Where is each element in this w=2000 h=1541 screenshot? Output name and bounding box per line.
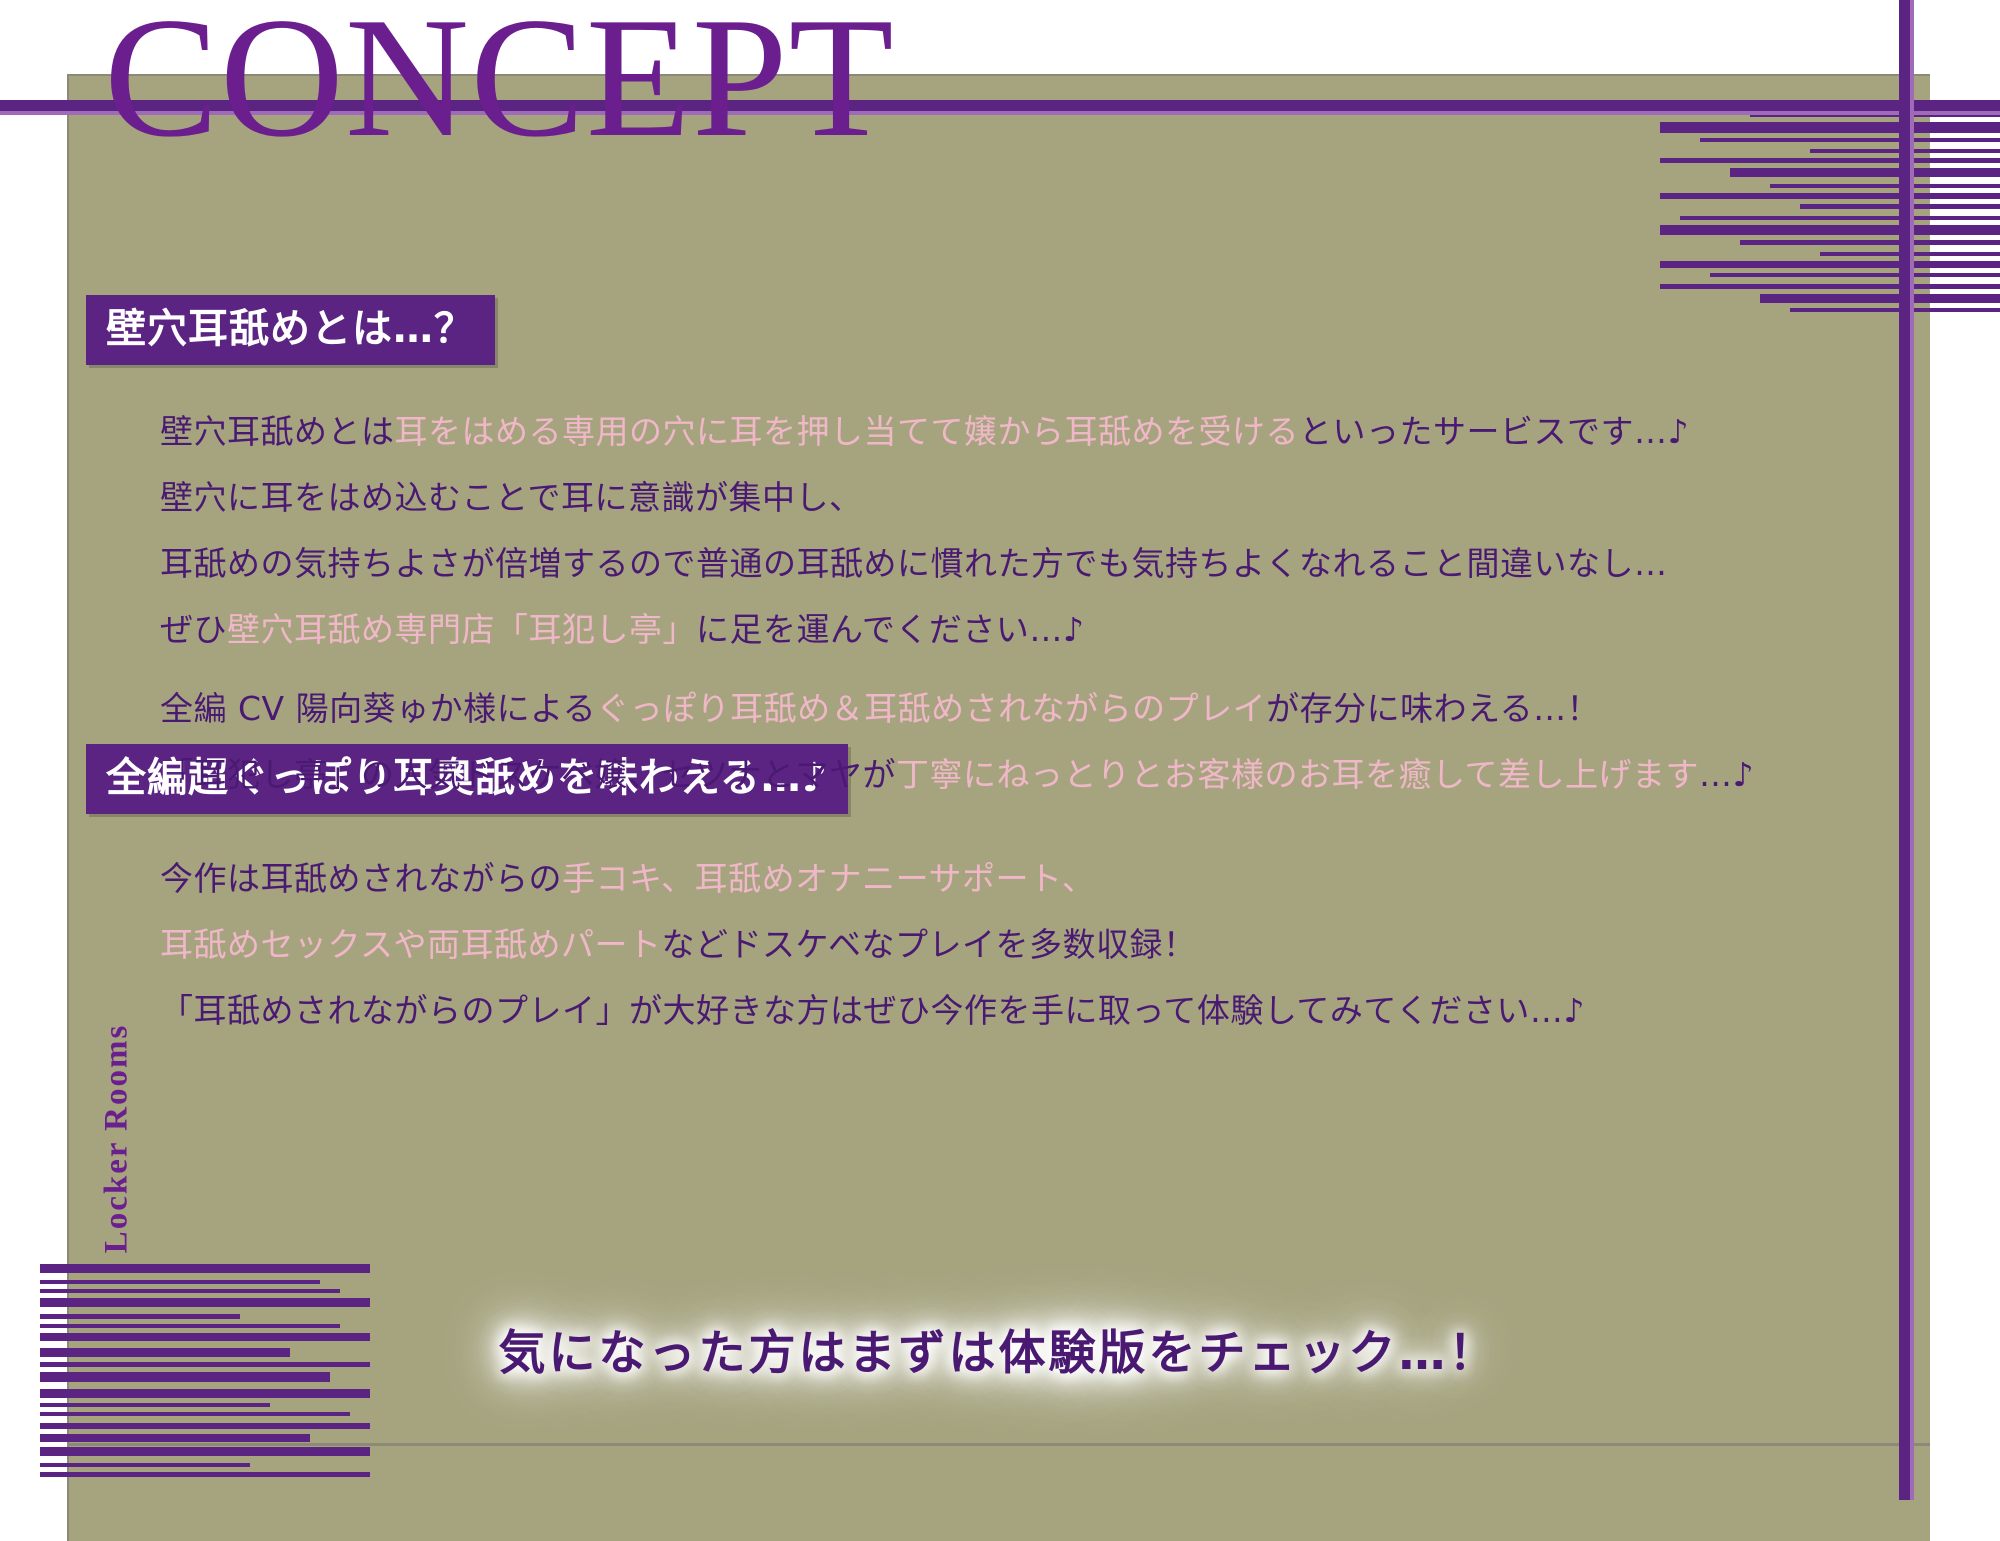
body-text-run: 壁穴に耳をはめ込むことで耳に意識が集中し、 (160, 478, 863, 517)
highlight-text-run: 手コキ、耳舐めオナニーサポート、 (562, 859, 1095, 898)
body-text-run: 耳舐めの気持ちよさが倍増するので普通の耳舐めに慣れた方でも気持ちよくなれること間… (160, 544, 1668, 583)
section-body-3: 今作は耳舐めされながらの手コキ、耳舐めオナニーサポート、耳舐めセックスや両耳舐め… (160, 846, 1585, 1044)
body-text-run: 「耳舐めされながらのプレイ」が大好きな方はぜひ今作を手に取って体験してみてくださ… (160, 991, 1585, 1030)
body-text-run: 「耳犯し亭」の人気ドスケベ嬢、セツナとマヤが (160, 755, 896, 794)
body-text-run: 今作は耳舐めされながらの (160, 859, 562, 898)
section-body-1: 壁穴耳舐めとは耳をはめる専用の穴に耳を押し当てて嬢から耳舐めを受けるといったサー… (160, 399, 1689, 663)
body-line: 「耳犯し亭」の人気ドスケベ嬢、セツナとマヤが丁寧にねっとりとお客様のお耳を癒して… (160, 742, 1754, 808)
body-line: 今作は耳舐めされながらの手コキ、耳舐めオナニーサポート、 (160, 846, 1585, 912)
section-body-2: 全編 CV 陽向葵ゅか様によるぐっぽり耳舐め＆耳舐めされながらのプレイが存分に味… (160, 676, 1754, 808)
body-line: 壁穴耳舐めとは耳をはめる専用の穴に耳を押し当てて嬢から耳舐めを受けるといったサー… (160, 399, 1689, 465)
highlight-text-run: 丁寧にねっとりとお客様のお耳を癒して差し上げます (896, 755, 1699, 794)
body-text-run: に足を運んでください…♪ (696, 610, 1084, 649)
body-text-run: が存分に味わえる…！ (1266, 689, 1600, 728)
body-line: 「耳舐めされながらのプレイ」が大好きな方はぜひ今作を手に取って体験してみてくださ… (160, 978, 1585, 1044)
barcode-stripe (40, 1447, 370, 1456)
body-text-run: 全編 CV 陽向葵ゅか様による (160, 689, 596, 728)
body-text-run: ぜひ (160, 610, 227, 649)
body-text-run: といったサービスです…♪ (1299, 412, 1689, 451)
barcode-stripe (40, 1472, 370, 1477)
body-line: 耳舐めの気持ちよさが倍増するので普通の耳舐めに慣れた方でも気持ちよくなれること間… (160, 531, 1689, 597)
section-heading-badge-1: 壁穴耳舐めとは…？ (86, 295, 495, 365)
barcode-stripe (40, 1463, 250, 1467)
body-line: 耳舐めセックスや両耳舐めパートなどドスケベなプレイを多数収録！ (160, 912, 1585, 978)
highlight-text-run: 壁穴耳舐め専門店「耳犯し亭」 (227, 610, 696, 649)
content-area: 壁穴耳舐めとは…？ 壁穴耳舐めとは耳をはめる専用の穴に耳を押し当てて嬢から耳舐め… (67, 74, 1930, 1443)
highlight-text-run: ぐっぽり耳舐め＆耳舐めされながらのプレイ (596, 689, 1266, 728)
body-text-run: 壁穴耳舐めとは (160, 412, 395, 451)
highlight-text-run: 耳舐めセックスや両耳舐めパート (160, 925, 662, 964)
body-text-run: …♪ (1699, 755, 1754, 794)
page-root: CONCEPT Locker Rooms 壁穴耳舐めとは…？ 壁穴耳舐めとは耳を… (0, 0, 2000, 1500)
body-line: ぜひ壁穴耳舐め専門店「耳犯し亭」に足を運んでください…♪ (160, 597, 1689, 663)
body-line: 全編 CV 陽向葵ゅか様によるぐっぽり耳舐め＆耳舐めされながらのプレイが存分に味… (160, 676, 1754, 742)
highlight-text-run: 耳をはめる専用の穴に耳を押し当てて嬢から耳舐めを受ける (395, 412, 1300, 451)
call-to-action-text: 気になった方はまずは体験版をチェック…！ (67, 1314, 1930, 1383)
body-line: 壁穴に耳をはめ込むことで耳に意識が集中し、 (160, 465, 1689, 531)
body-text-run: などドスケベなプレイを多数収録！ (662, 925, 1197, 964)
